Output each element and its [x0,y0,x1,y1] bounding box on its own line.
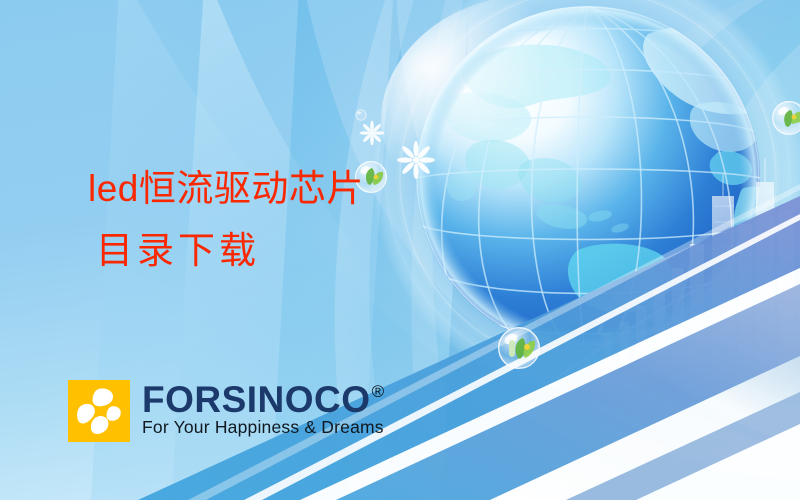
headline-line-2: 目录下载 [96,232,260,269]
sparkle-bubble [356,110,367,121]
white-flower-small [360,121,385,146]
headline-line-1: led恒流驱动芯片 [88,170,364,207]
logo-text-block: FORSINOCO ® For Your Happiness & Dreams [142,380,384,437]
logo-wordmark-row: FORSINOCO ® [142,382,384,417]
promo-banner: led恒流驱动芯片 目录下载 FORSINOCO ® For Your Happ… [0,0,800,500]
forsinoco-logo[interactable]: FORSINOCO ® For Your Happiness & Dreams [68,380,384,442]
logo-tagline: For Your Happiness & Dreams [142,418,384,436]
white-flower-large [397,141,435,179]
eco-bubble-center [498,327,540,369]
forsinoco-pinwheel-mark [68,380,130,442]
registered-trademark-symbol: ® [372,383,385,400]
logo-wordmark: FORSINOCO [142,382,371,417]
